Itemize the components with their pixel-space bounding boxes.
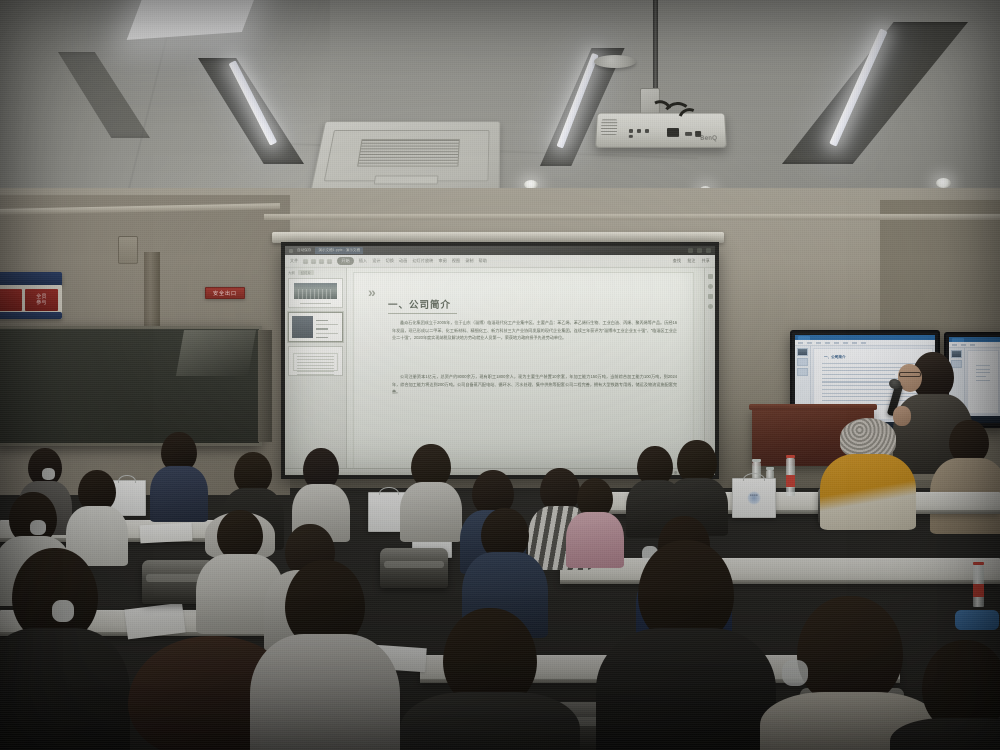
ppt-title-bar: 自动保存 演示文稿1.pptx - 演示文稿	[285, 246, 715, 255]
close-icon[interactable]	[706, 248, 711, 253]
fire-equipment-box	[118, 236, 138, 264]
audience-member	[66, 470, 128, 560]
projector-port	[637, 129, 641, 133]
current-slide[interactable]: » 一、公司简介 鑫焱石化集团成立于2005年，位于山东（淄博）临淄现代化工产业…	[353, 272, 694, 471]
thumbnail-pane-tabs[interactable]: 大纲 幻灯片	[288, 270, 343, 275]
smoke-detector-icon	[594, 55, 636, 68]
classroom-scene: BenQ 全员 参与全员参与 安全出口	[0, 0, 1000, 750]
projector-mount-pole	[653, 0, 658, 92]
ribbon-tab-design[interactable]: 设计	[372, 258, 380, 264]
notice-board-panel-left	[0, 289, 22, 311]
ribbon-comments-button[interactable]: 批注	[687, 258, 695, 264]
slide-title[interactable]: 一、公司简介	[388, 297, 451, 311]
audience-body	[400, 692, 580, 750]
audience-member-foreground	[890, 640, 1000, 750]
ppt-ribbon: 文件 开始 插入 设计 切换 动画 幻灯片放映 审阅 视图 录制	[285, 255, 715, 268]
ceiling: BenQ	[0, 0, 1000, 200]
bottle-cap	[766, 467, 774, 470]
projector-port	[645, 129, 649, 133]
redo-icon[interactable]	[319, 259, 324, 264]
format-pane-icon[interactable]	[708, 274, 713, 279]
ribbon-tab-review[interactable]: 审阅	[438, 258, 446, 264]
ac-filter-tab	[374, 175, 438, 184]
thumbnail-bullet-lines	[316, 320, 338, 341]
bottle-cap	[752, 459, 761, 462]
bottle-label	[786, 475, 795, 486]
water-bottle	[973, 565, 984, 607]
bottle-cap	[786, 455, 795, 458]
notice-board-panel-right: 全员 参与全员参与	[25, 289, 58, 311]
tote-bag: ■■■■	[732, 478, 776, 518]
wall-trim	[264, 214, 1000, 220]
bottle-cap	[973, 562, 984, 565]
notice-board-footer	[0, 312, 62, 319]
powerpoint-window: 自动保存 演示文稿1.pptx - 演示文稿 文件	[285, 246, 715, 475]
ribbon-tab-insert[interactable]: 插入	[359, 258, 367, 264]
audience-member-foreground	[250, 560, 400, 750]
ribbon-tab-home[interactable]: 开始	[337, 257, 353, 265]
handout-paper	[140, 523, 193, 544]
minimize-icon[interactable]	[688, 248, 693, 253]
audience-member-foreground	[400, 608, 580, 750]
tote-bag-text: ■■■■	[750, 493, 758, 497]
thumbnail-photo	[294, 283, 337, 299]
slide-paragraph-1[interactable]: 鑫焱石化集团成立于2005年，位于山东（淄博）临淄现代化工产业集中区。主要产品：…	[392, 319, 677, 342]
audience-member	[292, 448, 350, 534]
monitor-slide-title: 一、公司简介	[824, 355, 846, 360]
slide-thumbnail-pane[interactable]: 大纲 幻灯片	[285, 268, 347, 475]
chevron-decoration-icon: »	[368, 285, 376, 299]
thumbnail-caption-bar	[300, 303, 332, 305]
thumbnail-dark-panel	[292, 316, 313, 338]
audience-member	[150, 432, 208, 516]
audience-body	[596, 628, 776, 750]
projector-port	[629, 129, 633, 133]
print-icon[interactable]	[327, 259, 332, 264]
thumbnail-text-box	[293, 353, 338, 371]
autosave-toggle-icon[interactable]	[289, 249, 293, 253]
exit-sign: 安全出口	[205, 287, 245, 299]
exit-sign-label: 安全出口	[213, 290, 237, 297]
downlight-b	[936, 178, 951, 188]
audience-body	[250, 634, 400, 750]
slide-thumbnail-1[interactable]	[288, 278, 343, 308]
blackboard	[0, 326, 262, 446]
ac-grille	[357, 139, 461, 166]
undo-icon[interactable]	[311, 259, 316, 264]
ac-cassette-unit	[310, 121, 500, 191]
tote-bag-handle	[379, 487, 400, 495]
tote-bag-handle	[743, 473, 765, 481]
monitor-lines	[976, 365, 990, 383]
bottle-label	[973, 584, 984, 597]
tab-outline[interactable]: 大纲	[288, 270, 295, 275]
design-ideas-icon[interactable]	[708, 284, 713, 289]
blackboard-side-panel	[258, 330, 272, 442]
tab-slides[interactable]: 幻灯片	[298, 270, 314, 275]
lectern-top-surface	[749, 404, 877, 410]
face-mask	[782, 660, 808, 686]
ribbon-tab-help[interactable]: 帮助	[479, 258, 487, 264]
notice-board	[0, 272, 62, 286]
ribbon-tab-record[interactable]: 录制	[465, 258, 473, 264]
comments-icon[interactable]	[708, 294, 713, 299]
audience-body	[0, 628, 130, 750]
audience-member-foreground	[596, 540, 776, 750]
ribbon-tab-transitions[interactable]: 切换	[386, 258, 394, 264]
bucket-hat-icon	[840, 418, 896, 458]
projection-screen: 自动保存 演示文稿1.pptx - 演示文稿 文件	[281, 242, 719, 479]
face-mask	[30, 520, 46, 535]
audience-head	[217, 510, 263, 560]
projector-port	[629, 135, 633, 138]
ribbon-search-button[interactable]: 查找	[673, 258, 681, 264]
slide-thumbnail-2[interactable]	[288, 312, 343, 342]
ribbon-file-tab[interactable]: 文件	[290, 258, 298, 264]
ribbon-tab-view[interactable]: 视图	[452, 258, 460, 264]
face-mask	[42, 468, 55, 480]
ppt-workspace: 大纲 幻灯片	[285, 268, 715, 475]
blue-cloth	[955, 610, 999, 630]
slide-thumbnail-3[interactable]	[288, 346, 343, 376]
ribbon-share-button[interactable]: 共享	[702, 258, 710, 264]
slide-paragraph-2[interactable]: 公司注册资本1亿元，总资产约8000余万，现有职工1800余人，现为主要生产装置…	[392, 373, 677, 396]
quick-access-toolbar[interactable]	[303, 259, 332, 264]
projector-brand-label: BenQ	[700, 136, 717, 142]
ppt-file-title: 演示文稿1.pptx - 演示文稿	[315, 247, 363, 254]
audience-body	[890, 718, 1000, 750]
audience-body	[400, 482, 462, 542]
maximize-icon[interactable]	[697, 248, 702, 253]
audience-member-foreground	[0, 548, 130, 748]
water-bottle	[786, 458, 795, 496]
audience-head	[797, 596, 903, 706]
save-icon[interactable]	[303, 259, 308, 264]
ribbon-tab-slideshow[interactable]: 幻灯片放映	[412, 258, 433, 264]
ribbon-tab-animations[interactable]: 动画	[399, 258, 407, 264]
audience-body	[820, 454, 916, 530]
autosave-label: 自动保存	[297, 248, 311, 253]
audience-member-capped	[820, 418, 916, 526]
presenter-glasses-icon	[899, 372, 921, 377]
notes-icon[interactable]	[708, 304, 713, 309]
projector-vent	[601, 119, 618, 135]
audience-member	[400, 444, 462, 536]
face-mask	[52, 600, 74, 622]
